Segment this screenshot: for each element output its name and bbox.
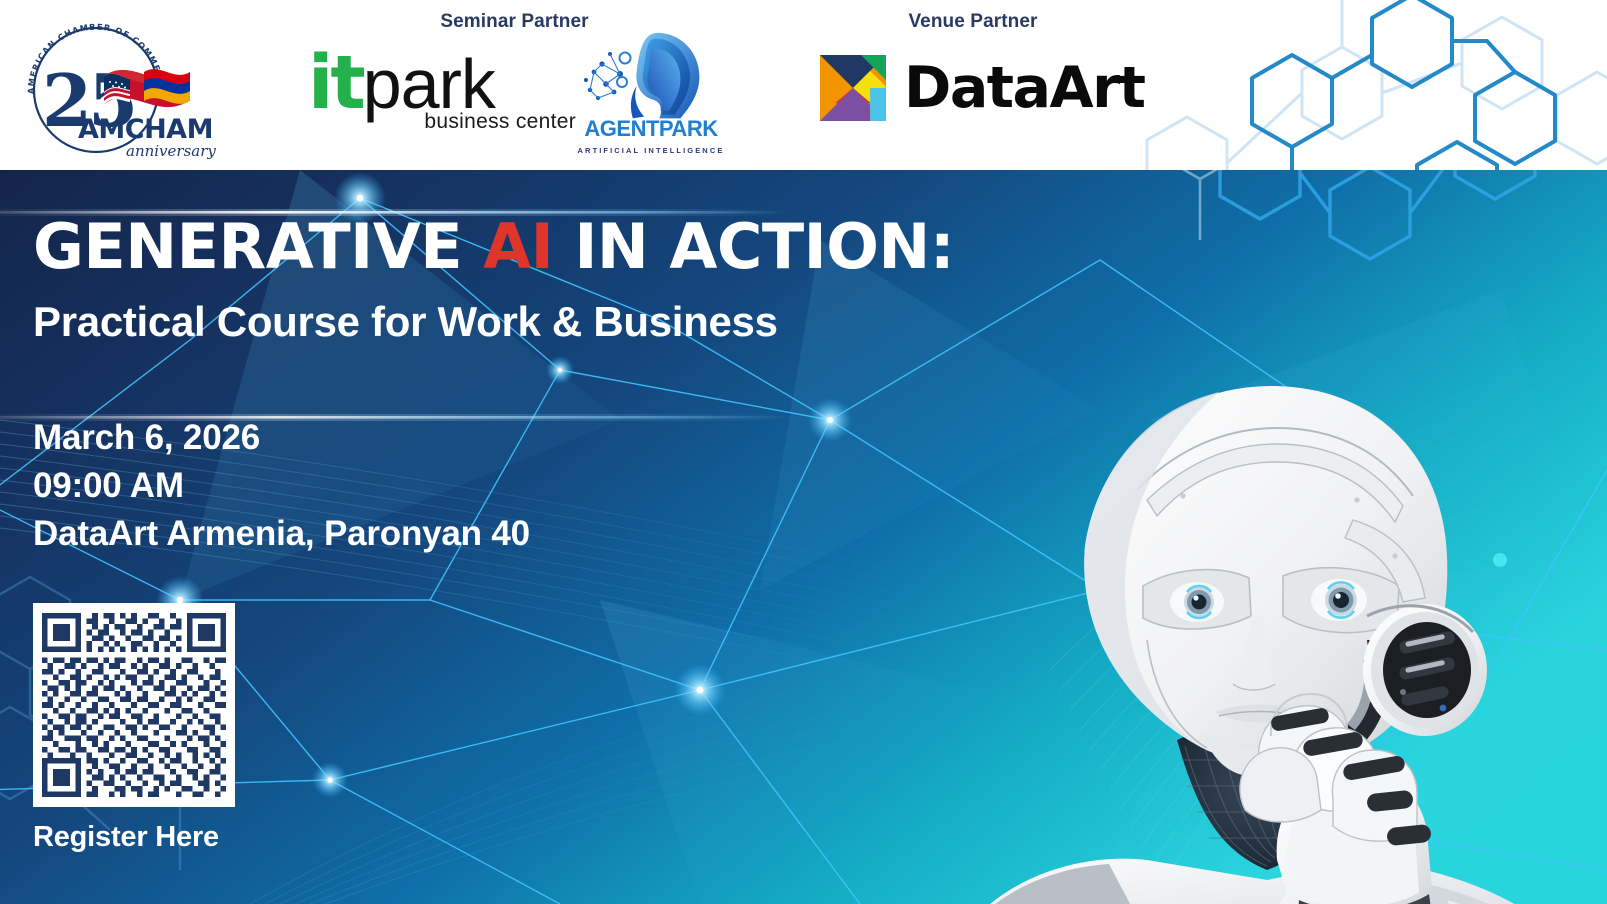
agentpark-logo: AGENTPARK ARTIFICIAL INTELLIGENCE	[576, 28, 726, 158]
hexagon-pattern-icon	[1087, 0, 1607, 170]
registration-qr-code[interactable]	[33, 603, 235, 807]
itpark-logo: it park business center	[308, 44, 578, 144]
partner-band: AMERICAN CHAMBER OF COMMERCE IN ARMENIA …	[0, 0, 1607, 170]
register-caption: Register Here	[33, 821, 219, 854]
venue-partner-group: Venue Partner DataArt	[783, 0, 1163, 170]
agentpark-tagline: ARTIFICIAL INTELLIGENCE	[576, 146, 726, 155]
tangram-square-icon	[820, 55, 886, 121]
title-accent-ai: AI	[483, 210, 553, 283]
event-date: March 6, 2026	[33, 418, 260, 458]
title-part-2: IN ACTION:	[553, 210, 954, 283]
venue-partner-label: Venue Partner	[783, 11, 1163, 33]
dataart-wordmark: DataArt	[904, 60, 1144, 117]
event-poster: AMERICAN CHAMBER OF COMMERCE IN ARMENIA …	[0, 0, 1607, 904]
itpark-it-text: it	[308, 53, 363, 114]
event-time: 09:00 AM	[33, 466, 184, 506]
dataart-logo: DataArt	[820, 55, 1144, 121]
amcham-logo: AMERICAN CHAMBER OF COMMERCE IN ARMENIA …	[0, 0, 246, 170]
poster-content: GENERATIVE AI IN ACTION: Practical Cours…	[0, 170, 1000, 904]
page-title: GENERATIVE AI IN ACTION:	[33, 210, 954, 283]
agentpark-head-icon	[576, 28, 726, 128]
agentpark-wordmark: AGENTPARK	[576, 116, 726, 142]
event-venue: DataArt Armenia, Paronyan 40	[33, 514, 530, 554]
itpark-park-text: park	[363, 54, 495, 114]
title-part-1: GENERATIVE	[33, 210, 483, 283]
qr-code-icon	[42, 612, 226, 798]
page-subtitle: Practical Course for Work & Business	[33, 298, 778, 346]
svg-text:anniversary: anniversary	[126, 142, 216, 160]
svg-text:AMCHAM: AMCHAM	[78, 114, 213, 145]
seminar-partner-group: Seminar Partner it park business center	[246, 0, 783, 170]
